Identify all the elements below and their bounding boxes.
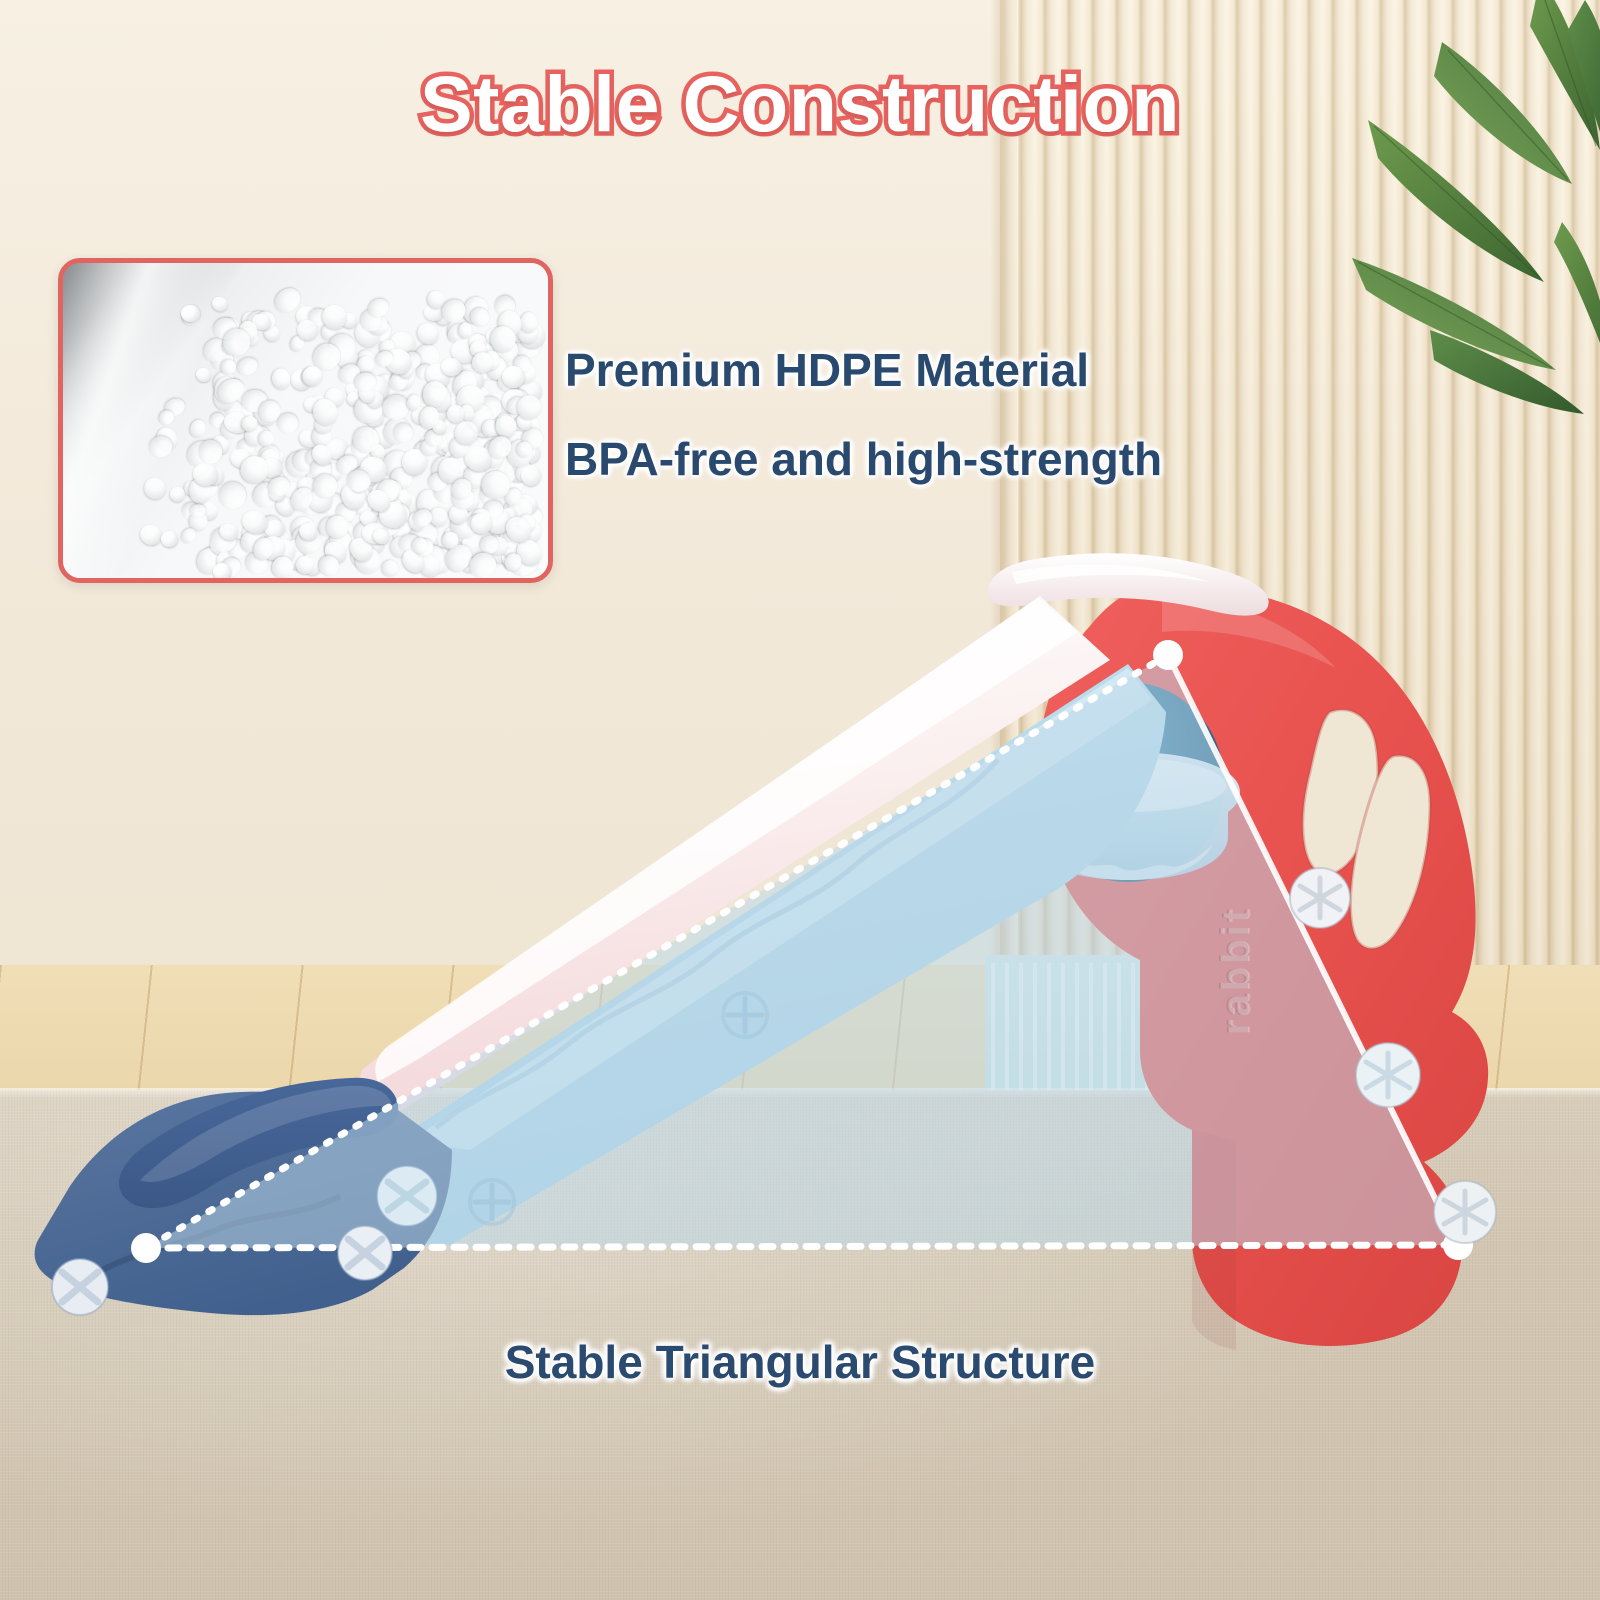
screw-cap-red-lower bbox=[1434, 1181, 1496, 1243]
triangle-vertex-bottom-left bbox=[131, 1233, 161, 1263]
screw-cap-red-upper bbox=[1290, 868, 1350, 928]
screw-cap-pivot bbox=[377, 1166, 437, 1226]
feature-line-2: BPA-free and high-strength bbox=[565, 432, 1162, 486]
screw-cap-red-middle bbox=[1356, 1043, 1420, 1107]
structure-caption: Stable Triangular Structure bbox=[0, 1335, 1600, 1389]
triangle-vertex-apex bbox=[1153, 640, 1183, 670]
screw-cap-base-left bbox=[52, 1259, 108, 1315]
product-marketing-image: rabbit Stable Construction Premium HDPE … bbox=[0, 0, 1600, 1600]
feature-line-1: Premium HDPE Material bbox=[565, 343, 1089, 397]
brand-emboss-rabbit: rabbit bbox=[1214, 906, 1259, 1035]
page-title: Stable Construction bbox=[0, 58, 1600, 150]
screw-cap-base-mid bbox=[338, 1226, 392, 1280]
